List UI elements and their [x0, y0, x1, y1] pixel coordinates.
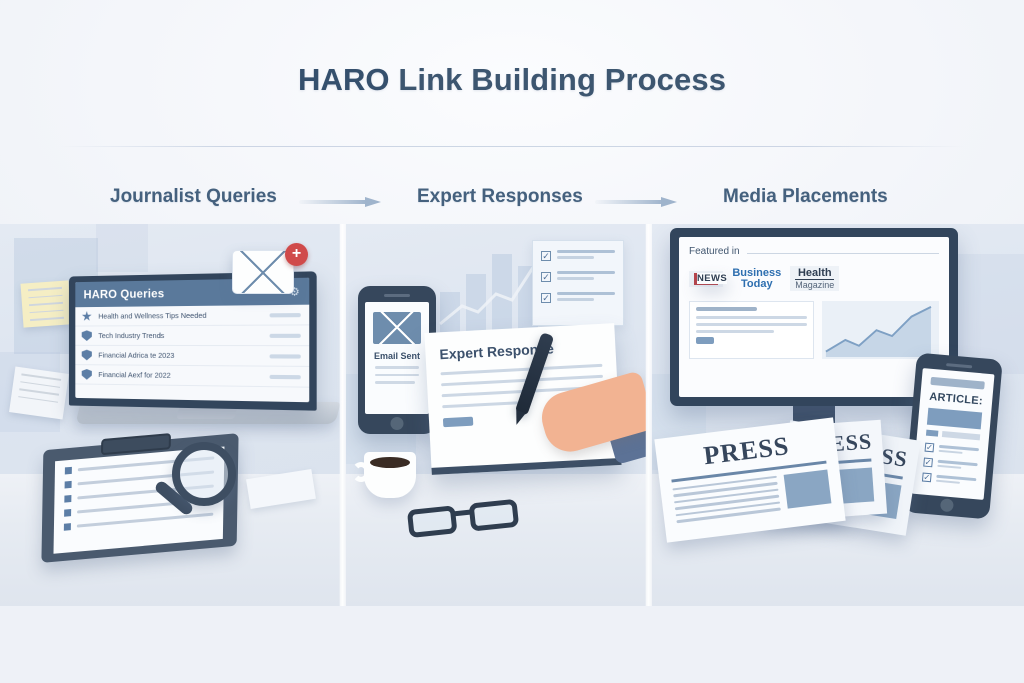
- title-haro: HARO: [298, 62, 390, 97]
- query-text: Health and Wellness Tips Needed: [98, 310, 262, 320]
- business-today-line2: Today: [741, 278, 773, 290]
- query-text: Financial Adrica te 2023: [98, 351, 262, 361]
- envelope-icon[interactable]: +: [232, 250, 294, 294]
- query-text: Tech Industry Trends: [98, 331, 262, 340]
- shield-icon: [82, 350, 92, 361]
- step-label-journalist-queries: Journalist Queries: [110, 186, 277, 208]
- business-today-logo: Business Today: [732, 268, 781, 290]
- haro-query-list: Health and Wellness Tips Needed Tech Ind…: [75, 305, 309, 388]
- list-item[interactable]: Tech Industry Trends: [75, 325, 309, 346]
- query-text: Financial Aexf for 2022: [98, 370, 262, 381]
- checkbox-checked-icon: ✓: [541, 293, 551, 303]
- process-steps: Journalist Queries Expert Responses Medi…: [0, 186, 1024, 220]
- notification-badge: +: [285, 243, 308, 266]
- line-chart-icon: [822, 301, 939, 359]
- panel-expert-responses: ✓ ✓ ✓ Email Sent Expert Response: [346, 224, 646, 606]
- title-rest: Link Building Process: [390, 62, 726, 97]
- health-magazine-line1: Health: [795, 267, 834, 280]
- health-magazine-logo: Health Magazine: [790, 266, 839, 291]
- list-item[interactable]: Financial Aexf for 2022: [75, 365, 309, 388]
- top-news-logo-news: NEWS: [697, 273, 727, 284]
- bar-chart-icon: [438, 236, 546, 332]
- header-divider: [60, 146, 964, 147]
- star-icon: [82, 311, 92, 322]
- haro-window-title: HARO Queries: [84, 286, 165, 301]
- article-preview-card: [689, 301, 814, 359]
- step-label-expert-responses: Expert Responses: [417, 186, 583, 208]
- infographic-canvas: HARO Link Building Process Journalist Qu…: [0, 0, 1024, 683]
- envelope-icon: [373, 312, 421, 344]
- shield-icon: [82, 330, 92, 341]
- panel-divider-1: [339, 224, 346, 606]
- checkbox-checked-icon: ✓: [541, 251, 551, 261]
- coffee-cup-icon: [364, 452, 416, 498]
- paper-note-white: [9, 366, 69, 419]
- document-title: Expert Response: [439, 337, 616, 362]
- panel-media-placements: Featured in TOP NEWS Business Today Heal…: [652, 224, 1024, 606]
- checkbox-checked-icon: ✓: [925, 443, 935, 453]
- query-meta-bar: [270, 354, 301, 358]
- query-meta-bar: [270, 374, 301, 378]
- checkbox-checked-icon: ✓: [541, 272, 551, 282]
- top-news-logo: TOP NEWS: [689, 271, 723, 287]
- query-meta-bar: [270, 333, 301, 337]
- list-item[interactable]: Financial Adrica te 2023: [75, 346, 309, 367]
- arrow-right-icon-2: [595, 197, 681, 207]
- shield-icon: [82, 369, 92, 380]
- page-title: HARO Link Building Process: [0, 62, 1024, 98]
- phone-email-sent: Email Sent: [358, 286, 436, 434]
- newspaper-front: PRESS: [654, 417, 845, 542]
- magnifier-icon: [172, 442, 236, 506]
- email-sent-label: Email Sent: [365, 351, 429, 361]
- step-label-media-placements: Media Placements: [723, 186, 888, 208]
- article-label: ARTICLE:: [929, 391, 984, 408]
- panel-divider-2: [645, 224, 652, 606]
- media-logo-list: TOP NEWS Business Today Health Magazine: [689, 266, 939, 291]
- newspaper-stack: ESS ESS PRESS: [654, 420, 904, 550]
- panel-journalist-queries: HARO Queries ⚙ Health and Wellness Tips …: [0, 224, 340, 606]
- arrow-right-icon-1: [299, 197, 385, 207]
- health-magazine-line2: Magazine: [795, 280, 834, 290]
- phone-article: ARTICLE: ✓ ✓ ✓: [903, 353, 1003, 520]
- list-item[interactable]: Health and Wellness Tips Needed: [75, 305, 309, 327]
- query-meta-bar: [270, 313, 301, 317]
- checklist-card: ✓ ✓ ✓: [532, 240, 624, 326]
- checkbox-checked-icon: ✓: [923, 458, 933, 468]
- checkbox-checked-icon: ✓: [922, 472, 932, 482]
- sticky-note-yellow: [21, 280, 72, 327]
- featured-in-label: Featured in: [689, 246, 740, 257]
